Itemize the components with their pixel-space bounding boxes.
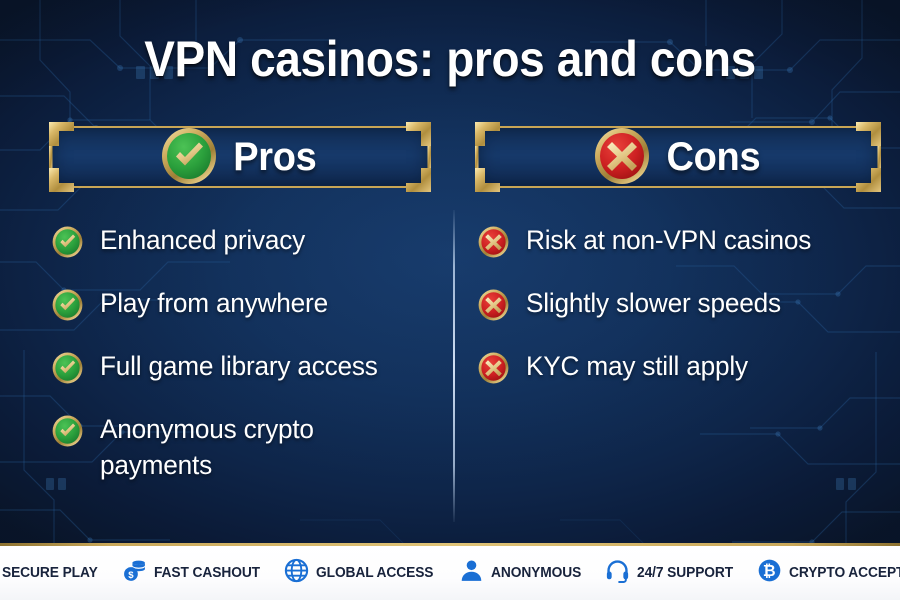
footer-item-label: FAST CASHOUT — [154, 565, 260, 581]
svg-text:₿: ₿ — [763, 562, 776, 580]
list-item: Slightly slower speeds — [478, 285, 878, 326]
footer-item-secure-play[interactable]: SECURE PLAY — [0, 558, 103, 588]
headset-icon — [605, 558, 630, 588]
footer-item-fast-cashout[interactable]: $ FAST CASHOUT — [122, 558, 266, 588]
list-item: Anonymous crypto payments — [52, 411, 428, 483]
list-item: KYC may still apply — [478, 348, 878, 389]
globe-icon — [284, 558, 309, 588]
cons-heading: Cons — [666, 137, 760, 180]
list-item: Play from anywhere — [52, 285, 428, 326]
list-item-label: Enhanced privacy — [100, 222, 305, 258]
check-circle-icon — [161, 127, 217, 190]
list-item: Full game library access — [52, 348, 428, 389]
list-item: Enhanced privacy — [52, 222, 428, 263]
check-circle-icon — [52, 352, 83, 389]
comparison-columns: Pros Enhanced privacy — [0, 118, 900, 538]
footer-item-label: 24/7 SUPPORT — [637, 565, 733, 581]
footer-item-label: GLOBAL ACCESS — [316, 565, 433, 581]
x-circle-icon — [594, 127, 650, 190]
footer-bar: SECURE PLAY $ FAST CASHOUT — [0, 546, 900, 600]
list-item-label: Slightly slower speeds — [526, 285, 781, 321]
svg-text:$: $ — [128, 570, 134, 581]
cons-banner: Cons — [478, 120, 878, 196]
list-item-label: KYC may still apply — [526, 348, 748, 384]
pros-list: Enhanced privacy Play from anywhere — [52, 222, 428, 505]
footer-item-label: ANONYMOUS — [491, 565, 581, 581]
page-title: VPN casinos: pros and cons — [36, 30, 864, 88]
bitcoin-icon: ₿ — [757, 558, 782, 588]
pros-heading: Pros — [233, 137, 316, 180]
coins-dollar-icon: $ — [122, 558, 147, 588]
footer-item-label: SECURE PLAY — [2, 565, 98, 581]
cons-list: Risk at non-VPN casinos Slightly slower … — [478, 222, 878, 411]
x-circle-icon — [478, 226, 509, 263]
footer-item-support[interactable]: 24/7 SUPPORT — [605, 558, 738, 588]
x-circle-icon — [478, 352, 509, 389]
cons-column: Cons Risk at non-VPN casinos — [450, 118, 900, 538]
list-item-label: Play from anywhere — [100, 285, 328, 321]
check-circle-icon — [52, 415, 83, 452]
footer-item-global-access[interactable]: GLOBAL ACCESS — [284, 558, 440, 588]
pros-banner: Pros — [52, 120, 428, 196]
x-circle-icon — [478, 289, 509, 326]
list-item-label: Risk at non-VPN casinos — [526, 222, 811, 258]
check-circle-icon — [52, 289, 83, 326]
list-item-label: Full game library access — [100, 348, 378, 384]
pros-banner-content: Pros — [52, 120, 428, 196]
footer-item-crypto[interactable]: ₿ CRYPTO ACCEPTED — [757, 558, 900, 588]
cons-banner-content: Cons — [478, 120, 878, 196]
infographic-canvas: VPN casinos: pros and cons — [0, 0, 900, 600]
footer-item-label: CRYPTO ACCEPTED — [789, 565, 900, 581]
footer-item-anonymous[interactable]: ANONYMOUS — [459, 558, 586, 588]
pros-column: Pros Enhanced privacy — [0, 118, 450, 538]
check-circle-icon — [52, 226, 83, 263]
person-icon — [459, 558, 484, 588]
list-item-label: Anonymous crypto payments — [100, 411, 343, 483]
list-item: Risk at non-VPN casinos — [478, 222, 878, 263]
